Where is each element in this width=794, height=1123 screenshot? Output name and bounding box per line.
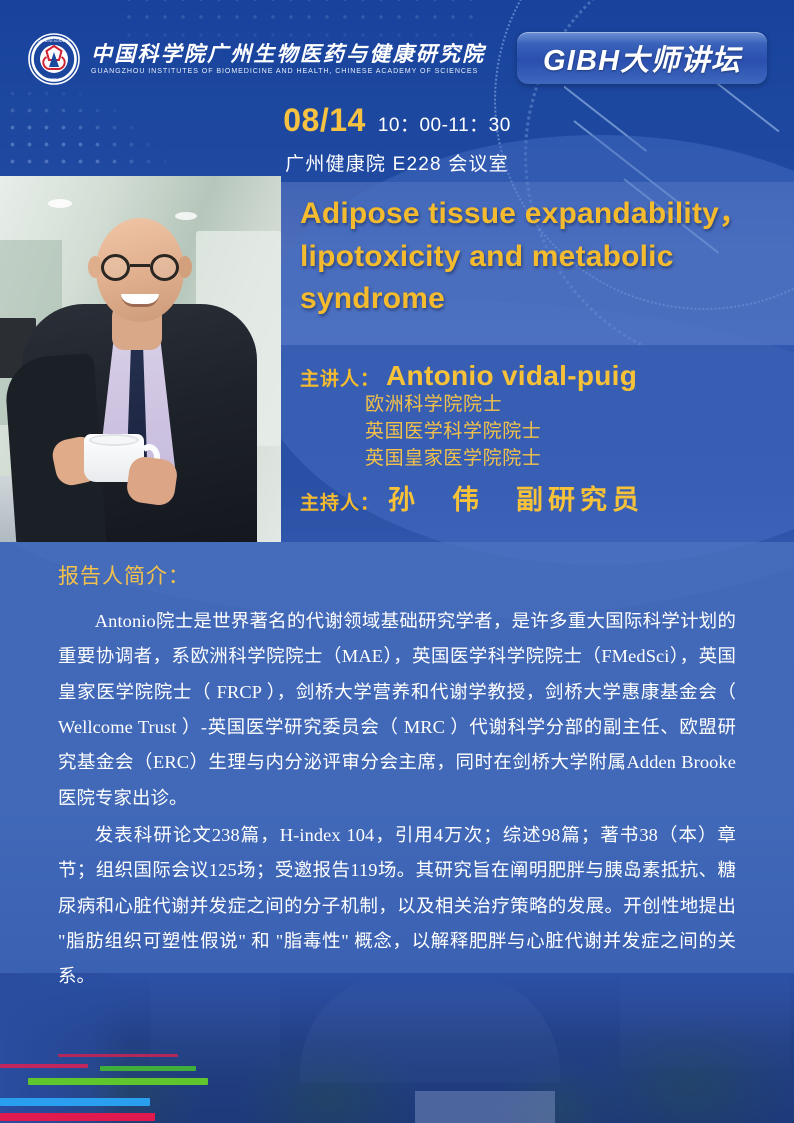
decor-line-4: [28, 1078, 208, 1085]
portrait-eyeglass-right: [150, 254, 179, 281]
portrait-cup-rim: [89, 434, 139, 446]
decor-line-6: [0, 1113, 155, 1121]
host-name: 孙 伟 副研究员: [388, 478, 644, 517]
decor-line-3: [100, 1066, 196, 1071]
speaker-credential-2: 英国医学科学院院士: [365, 419, 770, 446]
decor-line-1: [58, 1054, 178, 1057]
portrait-ceiling-light-2: [175, 212, 197, 220]
host-label: 主持人：: [300, 488, 380, 515]
event-date-row: 08/14 10：00-11：30: [0, 104, 794, 136]
speaker-name-row: 主讲人： Antonio vidal-puig: [300, 360, 770, 392]
speaker-portrait-photo: [0, 176, 281, 542]
bio-section: 报告人简介： Antonio院士是世界著名的代谢领域基础研究学者，是许多重大国际…: [0, 560, 794, 995]
decor-line-5: [0, 1098, 150, 1106]
event-datetime-block: 08/14 10：00-11：30 广州健康院 E228 会议室: [0, 104, 794, 176]
logo-chinese-name: 中国科学院广州生物医药与健康研究院: [91, 43, 485, 65]
speaker-name: Antonio vidal-puig: [386, 360, 637, 392]
speaker-credential-3: 英国皇家医学院院士: [365, 446, 770, 473]
portrait-ceiling-light-1: [48, 199, 72, 208]
speaker-label: 主讲人：: [300, 364, 380, 391]
portrait-hand-right: [125, 455, 179, 507]
series-badge-label: GIBH大师讲坛: [543, 37, 741, 79]
svg-text:GIBH: GIBH: [49, 77, 60, 82]
speaker-credential-1: 欧洲科学院院士: [365, 392, 770, 419]
talk-title-line-2: lipotoxicity and metabolic: [300, 236, 770, 279]
bio-paragraph-1: Antonio院士是世界著名的代谢领域基础研究学者，是许多重大国际科学计划的重要…: [58, 604, 736, 816]
talk-title-line-1: Adipose tissue expandability，: [300, 193, 770, 236]
gibh-emblem-icon: CHINESE ACADEMY GIBH: [28, 33, 80, 85]
decor-line-2: [0, 1064, 88, 1068]
series-badge: GIBH大师讲坛: [517, 32, 767, 84]
lecture-poster: CHINESE ACADEMY GIBH 中国科学院广州生物医药与健康研究院 G…: [0, 0, 794, 1123]
talk-title-line-3: syndrome: [300, 278, 770, 321]
portrait-ear-left: [88, 256, 102, 278]
speaker-block: 主讲人： Antonio vidal-puig 欧洲科学院院士 英国医学科学院院…: [300, 360, 770, 517]
portrait-eyeglass-left: [101, 254, 130, 281]
svg-text:CHINESE ACADEMY: CHINESE ACADEMY: [38, 39, 71, 43]
portrait-eyeglass-bridge: [130, 264, 150, 267]
talk-title: Adipose tissue expandability， lipotoxici…: [300, 193, 770, 321]
host-row: 主持人： 孙 伟 副研究员: [300, 478, 770, 517]
portrait-ear-right: [178, 256, 192, 278]
event-time: 10：00-11：30: [378, 116, 511, 135]
institute-logo: CHINESE ACADEMY GIBH 中国科学院广州生物医药与健康研究院 G…: [28, 33, 485, 85]
event-venue: 广州健康院 E228 会议室: [0, 149, 794, 176]
bio-heading: 报告人简介：: [58, 560, 736, 590]
event-date: 08/14: [283, 104, 366, 136]
bio-paragraph-2: 发表科研论文238篇，H-index 104，引用4万次；综述98篇；著书38（…: [58, 818, 736, 995]
logo-english-name: GUANGZHOU INSTITUTES OF BIOMEDICINE AND …: [91, 67, 485, 75]
